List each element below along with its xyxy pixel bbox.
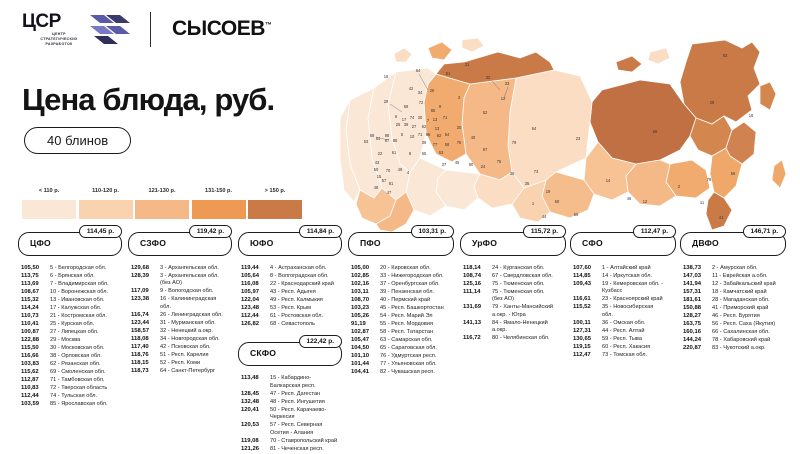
region-name: 32 - Ненецкий а.окр. — [156, 328, 232, 335]
table-row: 157,3118 - Камчатский край — [680, 289, 786, 296]
svg-text:24: 24 — [481, 164, 486, 169]
svg-text:36: 36 — [510, 171, 515, 176]
table-row: 104,5065 - Саратовская обл. — [348, 345, 454, 352]
table-row: 118,1552 - Респ. Коми — [128, 360, 232, 367]
svg-text:62: 62 — [422, 124, 427, 129]
region-price-value: 105,47 — [348, 337, 376, 344]
svg-text:12: 12 — [501, 96, 506, 101]
region-name: 74 - Тульская обл. — [46, 393, 122, 400]
region-name: 41 - Приморский край — [708, 305, 786, 312]
region-name: 18 - Камчатский край — [708, 289, 786, 296]
table-row: 110,4125 - Курская обл. — [18, 321, 122, 328]
region-price-value: 105,26 — [348, 313, 376, 320]
table-row: 119,1560 - Респ. Хакасия — [570, 344, 676, 351]
svg-text:72: 72 — [419, 100, 424, 105]
table-row: 116,7426 - Ленинградская обл. — [128, 312, 232, 319]
region-name: 15 - Кабардино- Балкарская респ. — [266, 375, 342, 390]
region-price-value: 91,19 — [348, 321, 376, 328]
region-name: 48 - Респ. Ингушетия — [266, 399, 342, 406]
region-name: 38 - Орловская обл. — [46, 353, 122, 360]
table-row: 150,8841 - Приморский край — [680, 305, 786, 312]
table-row: 130,6559 - Респ. Тыва — [570, 336, 676, 343]
table-row: 103,2345 - Респ. Башкортостан — [348, 305, 454, 312]
region-column: УрФО115,72 р.118,1424 - Курганская обл.1… — [460, 232, 566, 343]
region-price-value: 123,48 — [238, 305, 266, 312]
region-name: 34 - Новгородская обл. — [156, 336, 232, 343]
table-row: 118,1424 - Курганская обл. — [460, 265, 566, 272]
region-price-value: 103,83 — [18, 361, 46, 368]
table-row: 112,4474 - Тульская обл. — [18, 393, 122, 400]
svg-text:28: 28 — [710, 100, 715, 105]
table-row: 110,7321 - Костромская обл. — [18, 313, 122, 320]
table-row: 138,732 - Амурская обл. — [680, 265, 786, 272]
table-row: 163,7556 - Респ. Саха (Якутия) — [680, 321, 786, 328]
region-column: СЗФО119,42 р.129,683 - Архангельская обл… — [128, 232, 232, 376]
table-row: 181,6128 - Магаданская обл. — [680, 297, 786, 304]
region-name: 5 - Белгородская обл. — [46, 265, 122, 272]
subtitle-badge: 40 блинов — [24, 127, 131, 154]
region-price-value: 128,45 — [238, 391, 266, 398]
table-row: 113,756 - Брянская обл. — [18, 273, 122, 280]
region-price-value: 123,38 — [128, 296, 156, 303]
region-name: 6 - Брянская обл. — [46, 273, 122, 280]
table-row: 128,2746 - Респ. Бурятия — [680, 313, 786, 320]
svg-text:46: 46 — [627, 196, 632, 201]
table-row: 118,7651 - Респ. Карелия — [128, 352, 232, 359]
svg-text:13: 13 — [435, 126, 440, 131]
svg-text:16: 16 — [384, 74, 389, 79]
svg-text:79: 79 — [512, 140, 517, 145]
svg-text:88: 88 — [393, 138, 398, 143]
region-price-value: 141,94 — [680, 281, 708, 288]
table-row: 119,0870 - Ставропольский край — [238, 438, 342, 445]
region-name: 13 - Ивановская обл. — [46, 297, 122, 304]
region-name: 28 - Магаданская обл. — [708, 297, 786, 304]
table-row: 103,8362 - Рязанская обл. — [18, 361, 122, 368]
federal-district-group: ДВФО146,71 р.138,732 - Амурская обл.147,… — [680, 232, 786, 352]
table-row: 115,5030 - Московская обл. — [18, 345, 122, 352]
region-name: 75 - Тюменская обл. (без АО) — [488, 289, 566, 304]
svg-text:40: 40 — [471, 135, 476, 140]
table-row: 110,8372 - Тверская область — [18, 385, 122, 392]
region-price-value: 147,03 — [680, 273, 708, 280]
svg-text:22: 22 — [378, 151, 383, 156]
region-name: 9 - Вологодская обл. — [156, 288, 232, 295]
table-row: 123,4431 - Мурманская обл. — [128, 320, 232, 327]
federal-district-header[interactable]: СКФО122,42 р. — [238, 342, 342, 366]
table-row: 123,3816 - Калининградская обл. — [128, 296, 232, 311]
region-price-value: 105,64 — [238, 273, 266, 280]
federal-district-group: ПФО103,31 р.105,0020 - Кировская обл.102… — [348, 232, 454, 376]
svg-text:81: 81 — [389, 181, 394, 186]
table-row: 102,1637 - Оренбургская обл. — [348, 281, 454, 288]
table-row: 126,8268 - Севастополь — [238, 321, 342, 328]
region-name: 39 - Пензенская обл. — [376, 289, 454, 296]
region-name: 56 - Респ. Саха (Якутия) — [708, 321, 786, 328]
federal-district-value-badge: 119,42 р. — [189, 225, 232, 238]
table-row: 158,5732 - Ненецкий а.окр. — [128, 328, 232, 335]
region-price-value: 108,67 — [18, 289, 46, 296]
svg-text:14: 14 — [606, 178, 611, 183]
region-name: 77 - Ульяновская обл. — [376, 361, 454, 368]
svg-text:31: 31 — [465, 62, 470, 67]
region-list: 118,1424 - Курганская обл.108,7467 - Све… — [460, 265, 566, 343]
region-name: 1 - Алтайский край — [598, 265, 676, 272]
svg-text:58: 58 — [445, 142, 450, 147]
region-name: 65 - Саратовская обл. — [376, 345, 454, 352]
svg-text:52: 52 — [483, 110, 488, 115]
table-row: 109,4319 - Кемеровская обл. - Кузбасс — [570, 281, 676, 296]
region-price-value: 105,97 — [238, 289, 266, 296]
region-name: 51 - Респ. Карелия — [156, 352, 232, 359]
region-name: 58 - Респ. Татарстан — [376, 329, 454, 336]
federal-district-name: ПФО — [360, 238, 381, 248]
region-price-value: 108,74 — [460, 273, 488, 280]
region-price-value: 144,24 — [680, 337, 708, 344]
table-row: 144,2478 - Хабаровский край — [680, 337, 786, 344]
region-name: 81 - Чеченская респ. — [266, 446, 342, 453]
federal-district-name: ДВФО — [692, 238, 719, 248]
svg-text:30: 30 — [418, 115, 423, 120]
svg-text:50: 50 — [374, 167, 379, 172]
federal-district-header[interactable]: УрФО115,72 р. — [460, 232, 566, 256]
federal-district-group: ЦФО114,45 р.105,505 - Белгородская обл.1… — [18, 232, 122, 408]
federal-district-group: СЗФО119,42 р.129,683 - Архангельская обл… — [128, 232, 232, 375]
svg-text:60: 60 — [555, 199, 560, 204]
region-column: ЮФО114,84 р.119,444 - Астраханская обл.1… — [238, 232, 342, 454]
table-row: 100,1136 - Омская обл. — [570, 320, 676, 327]
region-price-value: 128,39 — [128, 273, 156, 280]
table-row: 108,6710 - Воронежская обл. — [18, 289, 122, 296]
region-price-value: 100,87 — [18, 329, 46, 336]
region-price-value: 102,16 — [348, 281, 376, 288]
region-price-value: 130,65 — [570, 336, 598, 343]
region-price-value: 158,57 — [128, 328, 156, 335]
table-row: 113,4815 - Кабардино- Балкарская респ. — [238, 375, 342, 390]
table-row: 121,2681 - Чеченская респ. — [238, 446, 342, 453]
csr-arrow-icon — [88, 14, 130, 46]
region-price-value: 122,88 — [18, 337, 46, 344]
region-name: 12 - Забайкальский край — [708, 281, 786, 288]
region-name: 3 - Архангельская обл. (без АО) — [156, 273, 232, 288]
region-price-value: 112,87 — [18, 377, 46, 384]
federal-district-header[interactable]: ЮФО114,84 р. — [238, 232, 342, 256]
region-name: 21 - Костромская обл. — [46, 313, 122, 320]
region-price-value: 121,26 — [238, 446, 266, 453]
svg-text:29: 29 — [384, 99, 389, 104]
legend-label: < 110 р. — [22, 188, 76, 194]
region-name: 70 - Ставропольский край — [266, 438, 342, 445]
svg-text:26: 26 — [430, 88, 435, 93]
svg-text:64: 64 — [532, 126, 537, 131]
region-price-value: 111,14 — [460, 289, 488, 296]
federal-district-value-badge: 103,31 р. — [411, 225, 454, 238]
table-row: 102,8758 - Респ. Татарстан — [348, 329, 454, 336]
region-name: 23 - Красноярский край — [598, 296, 676, 303]
region-list: 105,0020 - Кировская обл.102,8533 - Ниже… — [348, 265, 454, 376]
region-price-value: 129,68 — [128, 265, 156, 272]
region-price-value: 150,88 — [680, 305, 708, 312]
region-name: 55 - Респ. Мордовия — [376, 321, 454, 328]
svg-text:12: 12 — [643, 199, 648, 204]
region-name: 36 - Омская обл. — [598, 320, 676, 327]
svg-text:44: 44 — [542, 214, 547, 219]
table-row: 118,0834 - Новгородская обл. — [128, 336, 232, 343]
region-name: 20 - Кировская обл. — [376, 265, 454, 272]
region-price-value: 105,50 — [18, 265, 46, 272]
region-price-value: 112,44 — [238, 313, 266, 320]
region-price-value: 131,69 — [460, 304, 488, 311]
svg-text:37: 37 — [442, 162, 447, 167]
region-name: 82 - Чувашская респ. — [376, 369, 454, 376]
svg-text:71: 71 — [418, 132, 423, 137]
region-list: 113,4815 - Кабардино- Балкарская респ.12… — [238, 375, 342, 453]
sysoev-logo-tm: ™ — [265, 22, 272, 29]
federal-district-name: УрФО — [472, 238, 497, 248]
region-name: 60 - Респ. Хакасия — [598, 344, 676, 351]
table-row: 123,4853 - Респ. Крым — [238, 305, 342, 312]
region-price-value: 163,75 — [680, 321, 708, 328]
region-name: 72 - Тверская область — [46, 385, 122, 392]
sysoev-logo-text: СЫСОЕВ — [172, 17, 265, 40]
region-name: 66 - Сахалинская обл. — [708, 329, 786, 336]
region-price-value: 113,75 — [18, 273, 46, 280]
svg-text:41: 41 — [719, 215, 724, 220]
region-name: 68 - Севастополь — [266, 321, 342, 328]
table-row: 141,1384 - Ямало-Ненецкий а.окр. — [460, 320, 566, 335]
region-name: 73 - Томская обл. — [598, 352, 676, 359]
federal-district-group: ЮФО114,84 р.119,444 - Астраханская обл.1… — [238, 232, 342, 328]
table-row: 122,0449 - Респ. Калмыкия — [238, 297, 342, 304]
table-row: 116,6638 - Орловская обл. — [18, 353, 122, 360]
federal-district-header[interactable]: СЗФО119,42 р. — [128, 232, 232, 256]
table-row: 115,5235 - Новосибирская обл. — [570, 304, 676, 319]
region-price-value: 116,61 — [570, 296, 598, 303]
region-name: 26 - Ленинградская обл. — [156, 312, 232, 319]
table-row: 101,1076 - Удмуртская респ. — [348, 353, 454, 360]
svg-text:63: 63 — [439, 150, 444, 155]
federal-district-header[interactable]: СФО112,47 р. — [570, 232, 676, 256]
region-name: 16 - Калининградская обл. — [156, 296, 232, 311]
table-row: 108,7467 - Свердловская обл. — [460, 273, 566, 280]
svg-text:43: 43 — [375, 160, 380, 165]
federal-district-header[interactable]: ДВФО146,71 р. — [680, 232, 786, 256]
table-row: 105,2654 - Респ. Марий Эл — [348, 313, 454, 320]
region-price-value: 110,41 — [18, 321, 46, 328]
region-name: 63 - Самарская обл. — [376, 337, 454, 344]
region-price-value: 113,48 — [238, 375, 266, 382]
svg-text:49: 49 — [398, 167, 403, 172]
federal-district-value-badge: 114,84 р. — [299, 225, 342, 238]
region-name: 50 - Респ. Карачаево- Черкесия — [266, 407, 342, 422]
region-name: 14 - Иркутская обл. — [598, 273, 676, 280]
region-price-value: 119,15 — [570, 344, 598, 351]
svg-text:57: 57 — [382, 178, 387, 183]
svg-text:64: 64 — [416, 68, 421, 73]
federal-district-name: ЮФО — [250, 238, 273, 248]
region-name: 79 - Ханты-Мансийский а.окр. - Югра — [488, 304, 566, 319]
region-name: 69 - Смоленская обл. — [46, 369, 122, 376]
region-price-value: 103,11 — [348, 289, 376, 296]
table-row: 104,4182 - Чувашская респ. — [348, 369, 454, 376]
region-name: 46 - Респ. Бурятия — [708, 313, 786, 320]
region-name: 8 - Волгоградская обл. — [266, 273, 342, 280]
svg-text:48: 48 — [374, 185, 379, 190]
legend-label: 131-150 р. — [192, 188, 246, 194]
table-row: 116,7280 - Челябинская обл. — [460, 335, 566, 342]
svg-text:85: 85 — [431, 108, 436, 113]
svg-text:67: 67 — [483, 147, 488, 152]
region-name: 33 - Нижегородская обл. — [376, 273, 454, 280]
region-price-value: 118,14 — [460, 265, 488, 272]
svg-text:42: 42 — [409, 86, 414, 91]
svg-text:39: 39 — [404, 122, 409, 127]
svg-text:78: 78 — [707, 177, 712, 182]
region-price-value: 115,52 — [570, 304, 598, 311]
legend-swatch — [22, 200, 76, 219]
table-row: 119,444 - Астраханская обл. — [238, 265, 342, 272]
table-row: 105,648 - Волгоградская обл. — [238, 273, 342, 280]
region-name: 64 - Санкт-Петербург — [156, 368, 232, 375]
region-name: 59 - Респ. Тыва — [598, 336, 676, 343]
region-price-value: 107,60 — [570, 265, 598, 272]
region-name: 2 - Амурская обл. — [708, 265, 786, 272]
federal-district-value-badge: 114,45 р. — [79, 225, 122, 238]
table-row: 129,683 - Архангельская обл. — [128, 265, 232, 272]
svg-text:84: 84 — [376, 136, 381, 141]
table-row: 115,3213 - Ивановская обл. — [18, 297, 122, 304]
region-price-value: 104,50 — [348, 345, 376, 352]
svg-text:32: 32 — [486, 75, 491, 80]
region-price-value: 100,11 — [570, 320, 598, 327]
region-price-value: 118,08 — [128, 336, 156, 343]
region-price-value: 114,85 — [570, 273, 598, 280]
region-price-value: 108,70 — [348, 297, 376, 304]
svg-text:74: 74 — [410, 115, 415, 120]
table-row: 105,9743 - Респ. Адыгея — [238, 289, 342, 296]
svg-text:39: 39 — [422, 140, 427, 145]
region-price-value: 118,73 — [128, 368, 156, 375]
region-name: 76 - Удмуртская респ. — [376, 353, 454, 360]
region-price-value: 115,32 — [18, 297, 46, 304]
region-name: 67 - Свердловская обл. — [488, 273, 566, 280]
table-row: 102,8533 - Нижегородская обл. — [348, 273, 454, 280]
table-row: 114,2417 - Калужская обл. — [18, 305, 122, 312]
region-name: 10 - Воронежская обл. — [46, 289, 122, 296]
region-price-value: 119,44 — [238, 265, 266, 272]
table-row: 112,8771 - Тамбовская обл. — [18, 377, 122, 384]
federal-district-header[interactable]: ПФО103,31 р. — [348, 232, 454, 256]
svg-text:19: 19 — [546, 189, 551, 194]
region-list: 129,683 - Архангельская обл.128,393 - Ар… — [128, 265, 232, 375]
map-regions — [340, 38, 786, 232]
csr-logo-subtitle: ЦЕНТР СТРАТЕГИЧЕСКИХ РАЗРАБОТОК — [23, 32, 95, 48]
svg-text:33: 33 — [505, 81, 510, 86]
region-list: 107,601 - Алтайский край114,8514 - Иркут… — [570, 265, 676, 359]
table-row: 105,0020 - Кировская обл. — [348, 265, 454, 272]
region-name: 22 - Краснодарский край — [266, 281, 342, 288]
table-row: 105,505 - Белгородская обл. — [18, 265, 122, 272]
federal-district-name: ЦФО — [30, 238, 51, 248]
region-name: 11 - Еврейская а.обл. — [708, 273, 786, 280]
svg-text:11: 11 — [700, 200, 705, 205]
table-row: 112,4773 - Томская обл. — [570, 352, 676, 359]
svg-text:53: 53 — [364, 139, 369, 144]
region-name: 61 - Ростовская обл. — [266, 313, 342, 320]
region-name: 75 - Тюменская обл. — [488, 281, 566, 288]
region-price-value: 102,87 — [348, 329, 376, 336]
region-price-value: 119,08 — [238, 438, 266, 445]
region-column: ДВФО146,71 р.138,732 - Амурская обл.147,… — [680, 232, 786, 353]
table-row: 125,1675 - Тюменская обл. — [460, 281, 566, 288]
region-price-value: 141,13 — [460, 320, 488, 327]
region-name: 24 - Курганская обл. — [488, 265, 566, 272]
svg-text:54: 54 — [445, 132, 450, 137]
region-name: 83 - Чукотский а.окр. — [708, 345, 786, 352]
table-row: 141,9412 - Забайкальский край — [680, 281, 786, 288]
svg-text:70: 70 — [386, 168, 391, 173]
table-row: 128,393 - Архангельская обл. (без АО) — [128, 273, 232, 288]
federal-district-value-badge: 115,72 р. — [523, 225, 566, 238]
region-price-value: 116,72 — [460, 335, 488, 342]
svg-text:76: 76 — [457, 140, 462, 145]
federal-district-header[interactable]: ЦФО114,45 р. — [18, 232, 122, 256]
table-row: 220,8783 - Чукотский а.окр. — [680, 345, 786, 352]
federal-district-value-badge: 122,42 р. — [299, 335, 342, 348]
legend-swatch — [192, 200, 246, 219]
svg-text:83: 83 — [723, 53, 728, 58]
table-row: 122,8829 - Москва — [18, 337, 122, 344]
region-name: 7 - Владимирская обл. — [46, 281, 122, 288]
csr-logo: ЦСР ЦЕНТР СТРАТЕГИЧЕСКИХ РАЗРАБОТОК — [22, 12, 130, 52]
region-price-value: 103,59 — [18, 401, 46, 408]
region-price-value: 115,50 — [18, 345, 46, 352]
region-price-value: 118,76 — [128, 352, 156, 359]
region-name: 42 - Псковская обл. — [156, 344, 232, 351]
region-name: 40 - Пермский край — [376, 297, 454, 304]
svg-text:20: 20 — [457, 125, 462, 130]
region-name: 80 - Челябинская обл. — [488, 335, 566, 342]
table-row: 108,7040 - Пермский край — [348, 297, 454, 304]
svg-text:56: 56 — [653, 129, 658, 134]
legend-label: 110-120 р. — [79, 188, 133, 194]
region-column: СФО112,47 р.107,601 - Алтайский край114,… — [570, 232, 676, 360]
region-name: 4 - Астраханская обл. — [266, 265, 342, 272]
svg-text:59: 59 — [574, 212, 579, 217]
table-row: 101,4477 - Ульяновская обл. — [348, 361, 454, 368]
region-name: 71 - Тамбовская обл. — [46, 377, 122, 384]
table-row: 117,4042 - Псковская обл. — [128, 344, 232, 351]
legend-swatch — [79, 200, 133, 219]
region-name: 25 - Курская обл. — [46, 321, 122, 328]
region-name: 19 - Кемеровская обл. - Кузбасс — [598, 281, 676, 296]
federal-district-group: СКФО122,42 р.113,4815 - Кабардино- Балка… — [238, 342, 342, 453]
region-price-value: 118,15 — [128, 360, 156, 367]
svg-text:10: 10 — [410, 134, 415, 139]
table-row: 103,5985 - Ярославская обл. — [18, 401, 122, 408]
region-list: 105,505 - Белгородская обл.113,756 - Бря… — [18, 265, 122, 408]
region-price-value: 127,31 — [570, 328, 598, 335]
svg-text:65: 65 — [422, 151, 427, 156]
region-name: 53 - Респ. Крым — [266, 305, 342, 312]
federal-district-name: СКФО — [250, 348, 276, 358]
region-price-value: 126,82 — [238, 321, 266, 328]
region-price-value: 220,87 — [680, 345, 708, 352]
region-name: 85 - Ярославская обл. — [46, 401, 122, 408]
region-price-value: 120,41 — [238, 407, 266, 414]
region-price-value: 125,16 — [460, 281, 488, 288]
region-name: 29 - Москва — [46, 337, 122, 344]
